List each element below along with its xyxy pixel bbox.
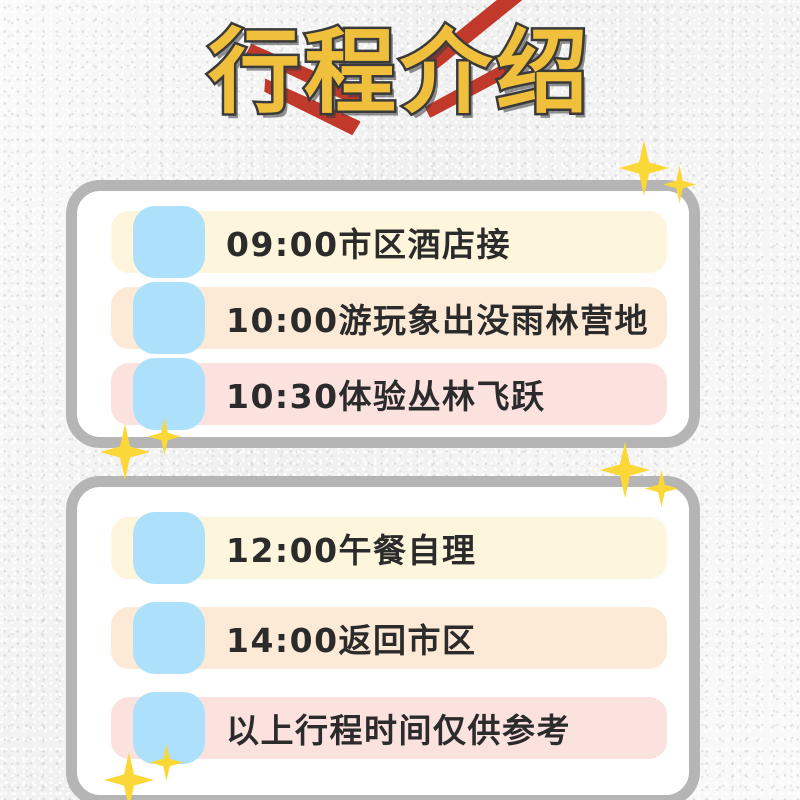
row-marker-icon bbox=[133, 602, 205, 674]
itinerary-card-afternoon: 12:00午餐自理 14:00返回市区 以上行程时间仅供参考 bbox=[66, 476, 700, 800]
itinerary-poster: 行程介绍 09:00市区酒店接 10:00游玩象出没雨林营地 10:30体验丛林… bbox=[0, 0, 800, 800]
row-marker-icon bbox=[133, 282, 205, 354]
list-item-label: 以上行程时间仅供参考 bbox=[226, 704, 571, 752]
row-marker-icon bbox=[133, 692, 205, 764]
row-marker-icon bbox=[133, 512, 205, 584]
itinerary-row-list: 09:00市区酒店接 10:00游玩象出没雨林营地 10:30体验丛林飞跃 bbox=[111, 211, 667, 425]
itinerary-row-list: 12:00午餐自理 14:00返回市区 以上行程时间仅供参考 bbox=[111, 517, 667, 759]
list-item-label: 10:00游玩象出没雨林营地 bbox=[226, 294, 649, 342]
list-item-label: 09:00市区酒店接 bbox=[226, 218, 511, 266]
list-item[interactable]: 14:00返回市区 bbox=[111, 607, 667, 669]
title-block: 行程介绍 bbox=[0, 4, 800, 164]
list-item[interactable]: 10:30体验丛林飞跃 bbox=[111, 363, 667, 425]
card-surface: 12:00午餐自理 14:00返回市区 以上行程时间仅供参考 bbox=[77, 487, 689, 795]
list-item-label: 12:00午餐自理 bbox=[226, 524, 477, 572]
page-title: 行程介绍 bbox=[0, 20, 800, 126]
list-item[interactable]: 09:00市区酒店接 bbox=[111, 211, 667, 273]
list-item-label: 10:30体验丛林飞跃 bbox=[226, 370, 546, 418]
row-marker-icon bbox=[133, 206, 205, 278]
list-item[interactable]: 以上行程时间仅供参考 bbox=[111, 697, 667, 759]
itinerary-card-morning: 09:00市区酒店接 10:00游玩象出没雨林营地 10:30体验丛林飞跃 bbox=[66, 180, 700, 448]
list-item-label: 14:00返回市区 bbox=[226, 614, 477, 662]
card-surface: 09:00市区酒店接 10:00游玩象出没雨林营地 10:30体验丛林飞跃 bbox=[77, 191, 689, 437]
list-item[interactable]: 12:00午餐自理 bbox=[111, 517, 667, 579]
row-marker-icon bbox=[133, 358, 205, 430]
list-item[interactable]: 10:00游玩象出没雨林营地 bbox=[111, 287, 667, 349]
